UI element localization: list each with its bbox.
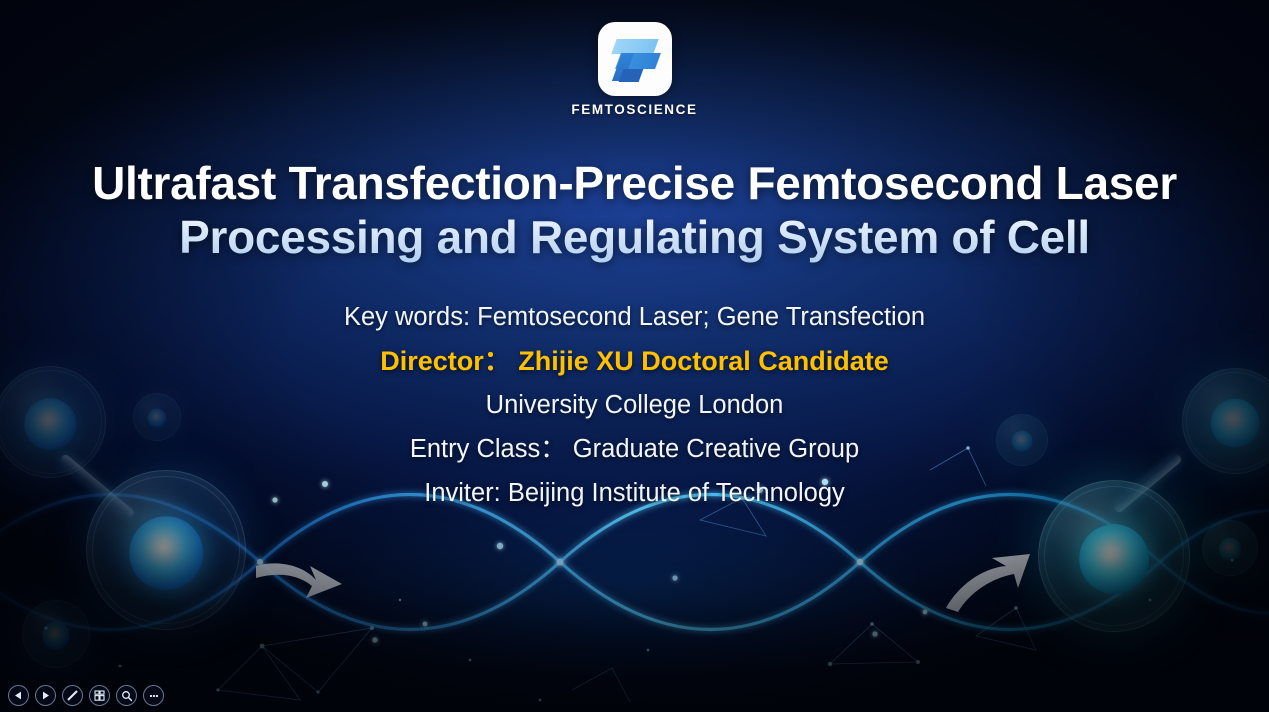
keywords-line: Key words: Femtosecond Laser; Gene Trans… <box>0 295 1269 339</box>
inviter-line: Inviter: Beijing Institute of Technology <box>0 471 1269 515</box>
femtoscience-f-logo-icon <box>598 22 672 96</box>
next-slide-button[interactable] <box>35 685 56 706</box>
slide-title-line-1: Ultrafast Transfection-Precise Femtoseco… <box>48 157 1221 211</box>
previous-slide-button[interactable] <box>8 685 29 706</box>
brand-wordmark: FEMTOSCIENCE <box>571 102 697 117</box>
brand-logo-block: FEMTOSCIENCE <box>0 22 1269 117</box>
slide-grid-button[interactable] <box>89 685 110 706</box>
more-options-button[interactable] <box>143 685 164 706</box>
triangle-right-icon <box>41 691 50 700</box>
affiliation-line: University College London <box>0 383 1269 427</box>
ellipsis-icon <box>148 690 160 702</box>
presentation-slide: FEMTOSCIENCE Ultrafast Transfection-Prec… <box>0 0 1269 712</box>
slide-info-block: Key words: Femtosecond Laser; Gene Trans… <box>0 295 1269 515</box>
triangle-left-icon <box>14 691 23 700</box>
presentation-toolbar[interactable] <box>8 685 164 706</box>
slide-title-line-2: Processing and Regulating System of Cell <box>48 211 1221 265</box>
entry-class-line: Entry Class： Graduate Creative Group <box>0 427 1269 471</box>
director-line: Director： Zhijie XU Doctoral Candidate <box>0 339 1269 383</box>
zoom-button[interactable] <box>116 685 137 706</box>
pen-icon <box>66 689 79 702</box>
pen-tool-button[interactable] <box>62 685 83 706</box>
slide-title: Ultrafast Transfection-Precise Femtoseco… <box>0 157 1269 265</box>
grid-slides-icon <box>94 690 106 702</box>
magnifier-icon <box>121 690 133 702</box>
